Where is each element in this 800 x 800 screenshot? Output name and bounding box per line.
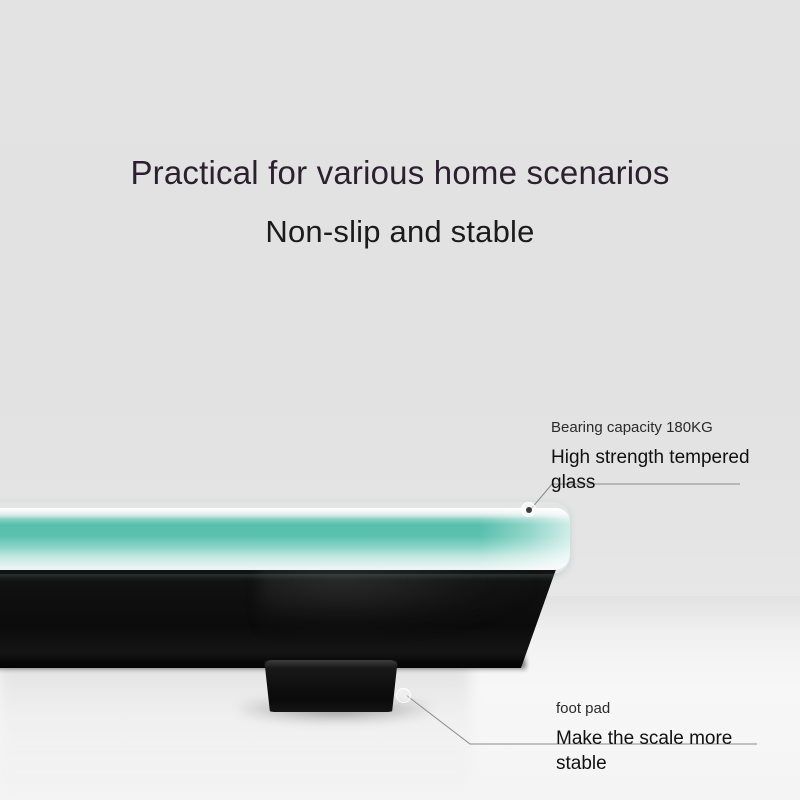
- tempered-glass-plate: [0, 508, 570, 570]
- callout-foot-pad: foot pad Make the scale more stable: [556, 699, 756, 776]
- scale-base-highlight: [260, 564, 530, 634]
- headline-primary: Practical for various home scenarios: [0, 152, 800, 194]
- product-feature-image: Practical for various home scenarios Non…: [0, 0, 800, 800]
- scale-base-bottom-shadow: [0, 652, 526, 670]
- weighing-scale-product: [0, 500, 600, 720]
- callout-glass: Bearing capacity 180KG High strength tem…: [551, 418, 756, 495]
- headline-block: Practical for various home scenarios Non…: [0, 152, 800, 252]
- headline-secondary: Non-slip and stable: [0, 212, 800, 252]
- callout-glass-label: Bearing capacity 180KG: [551, 418, 756, 438]
- callout-foot-pad-label: foot pad: [556, 699, 756, 719]
- callout-dot-icon-glass[interactable]: [521, 502, 536, 517]
- foot-pad-highlight: [264, 660, 398, 668]
- callout-dot-icon-foot[interactable]: [396, 688, 411, 703]
- glass-right-fade: [480, 508, 570, 570]
- callout-glass-title: High strength tempered glass: [551, 445, 756, 495]
- callout-foot-pad-title: Make the scale more stable: [556, 726, 756, 776]
